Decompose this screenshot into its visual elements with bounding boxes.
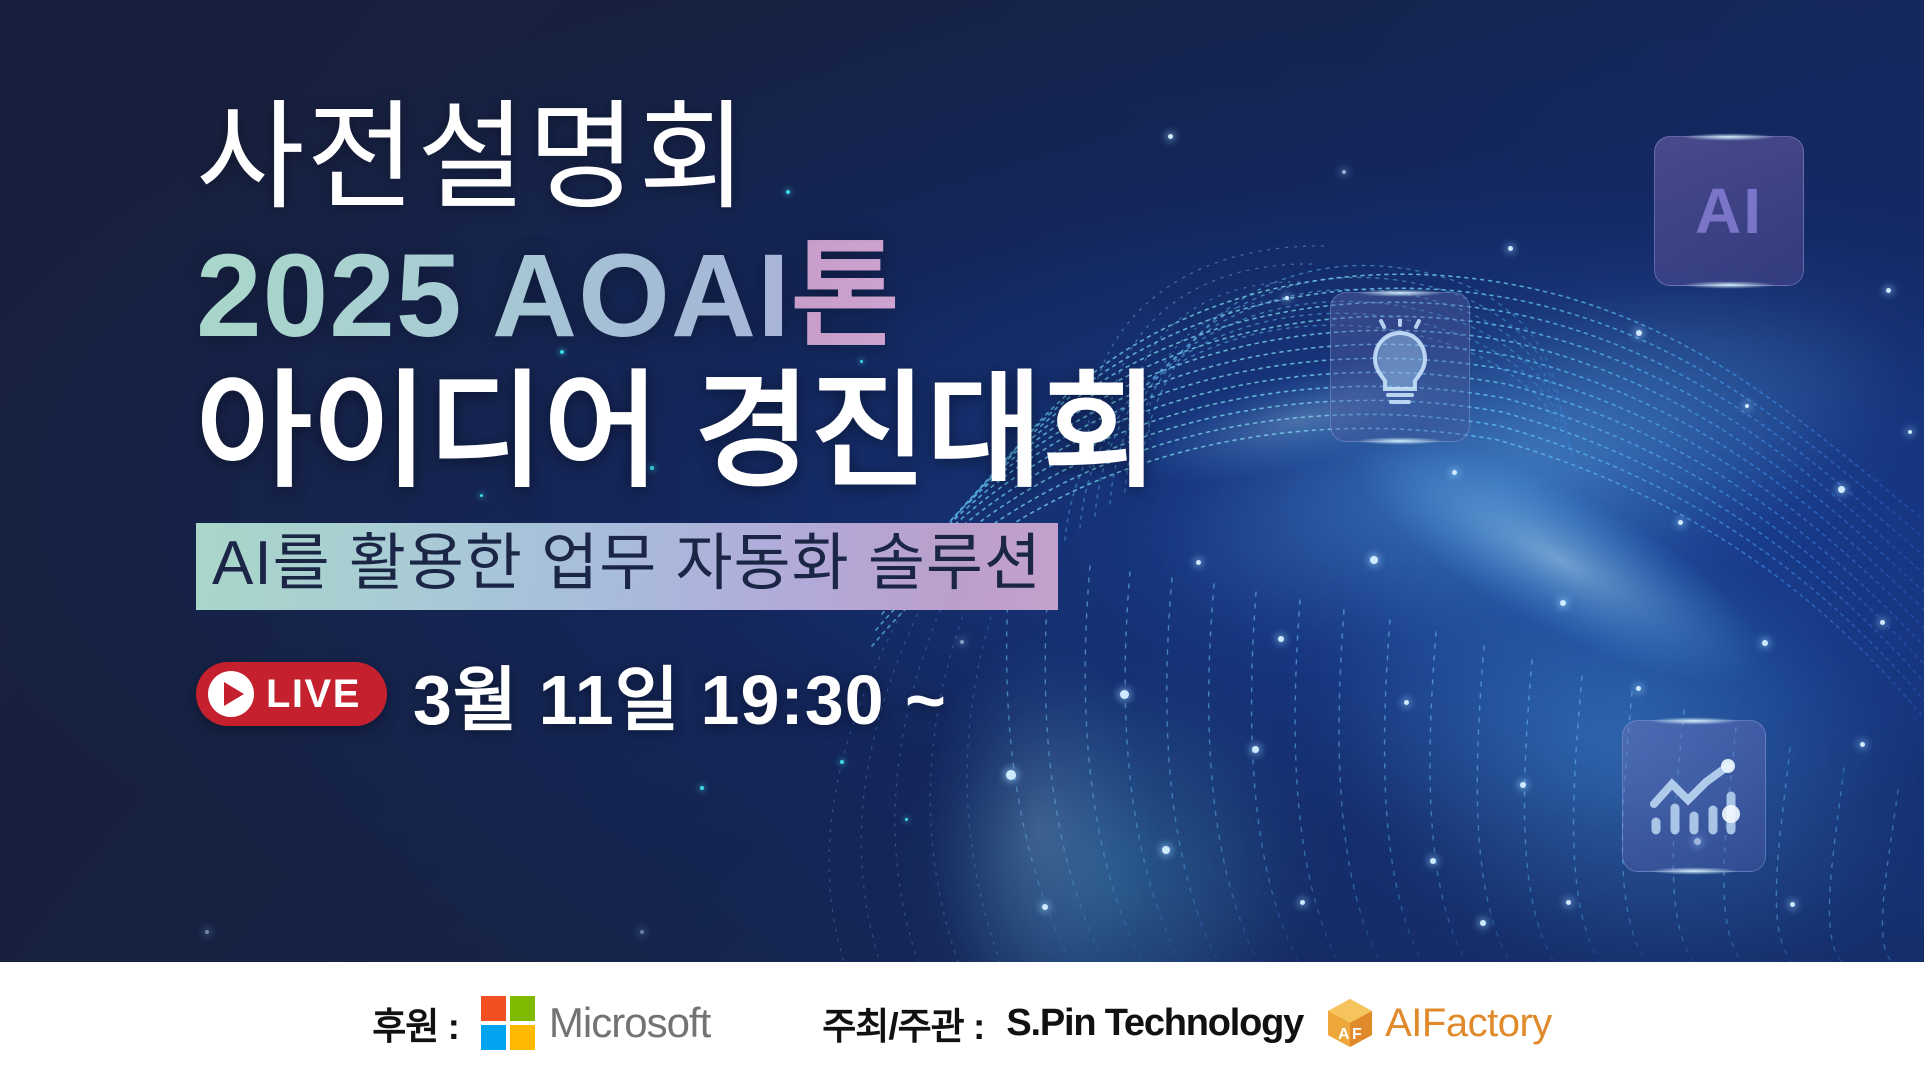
main-title: 아이디어 경진대회 xyxy=(196,366,1336,497)
play-icon xyxy=(208,671,254,717)
sponsor-label: 후원 : xyxy=(372,996,459,1050)
hero-banner: AI xyxy=(0,0,1924,962)
bar-chart-icon xyxy=(1644,752,1744,840)
schedule-row: LIVE 3월 11일 19:30 ~ xyxy=(196,644,1336,745)
lightbulb-icon xyxy=(1357,319,1443,415)
pre-title: 사전설명회 xyxy=(196,96,1336,221)
organizer-group: 주최/주관 : S.Pin Technology A F AIFactory xyxy=(822,996,1552,1050)
card-glow-top xyxy=(1342,288,1458,298)
lightbulb-card xyxy=(1330,292,1470,442)
card-glow-bottom xyxy=(1342,436,1458,446)
organizer-label: 주최/주관 : xyxy=(822,996,984,1050)
aifactory-cube-icon: A F xyxy=(1325,997,1375,1049)
ms-square-green xyxy=(510,996,535,1021)
ms-square-yellow xyxy=(510,1025,535,1050)
brand-title-tone: 톤 xyxy=(791,230,901,362)
card-glow-bottom xyxy=(1667,280,1791,290)
event-datetime: 3월 11일 19:30 ~ xyxy=(413,644,947,745)
ai-card-label: AI xyxy=(1695,174,1763,248)
poster-copy: 사전설명회 2025 AOAI톤 아이디어 경진대회 AI를 활용한 업무 자동… xyxy=(196,96,1336,745)
sponsor-group: 후원 : Microsoft xyxy=(372,996,710,1050)
aifactory-wordmark: AIFactory xyxy=(1385,1001,1552,1046)
subtitle-band: AI를 활용한 업무 자동화 솔루션 xyxy=(196,523,1058,610)
brand-title-main: 2025 AOAI xyxy=(196,230,791,362)
live-badge: LIVE xyxy=(196,662,387,726)
svg-text:A: A xyxy=(1338,1026,1350,1043)
microsoft-logo: Microsoft xyxy=(481,996,710,1050)
microsoft-squares-icon xyxy=(481,996,535,1050)
sponsor-footer: 후원 : Microsoft 주최/주관 : S.Pin Technology xyxy=(0,962,1924,1084)
event-poster: AI xyxy=(0,0,1924,1084)
chart-card xyxy=(1622,720,1766,872)
ai-card: AI xyxy=(1654,136,1804,286)
aifactory-logo: A F AIFactory xyxy=(1325,997,1552,1049)
svg-text:F: F xyxy=(1352,1026,1362,1043)
card-glow-bottom xyxy=(1634,866,1753,876)
card-glow-top xyxy=(1667,132,1791,142)
ms-square-blue xyxy=(481,1025,506,1050)
card-glow-top xyxy=(1634,716,1753,726)
spin-technology-wordmark: S.Pin Technology xyxy=(1006,1002,1303,1045)
microsoft-wordmark: Microsoft xyxy=(549,999,710,1047)
ms-square-red xyxy=(481,996,506,1021)
brand-title: 2025 AOAI톤 xyxy=(196,235,1336,358)
live-badge-label: LIVE xyxy=(266,672,361,717)
